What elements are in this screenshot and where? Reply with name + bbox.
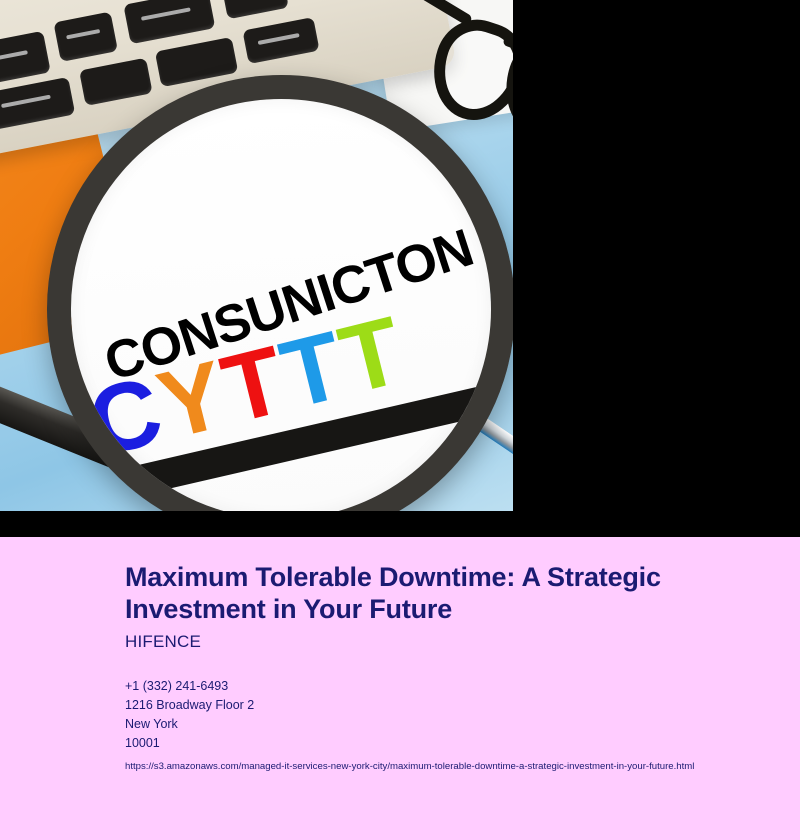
contact-phone: +1 (332) 241-6493 [125, 677, 785, 696]
keyboard-key [242, 17, 319, 64]
contact-postalcode: 10001 [125, 734, 785, 753]
brand-name: HIFENCE [125, 632, 201, 652]
keyboard-key [155, 37, 238, 87]
keyboard-key [221, 0, 289, 19]
media-band: CONSUNICTON CYTTT [0, 0, 800, 537]
keyboard-key [123, 0, 215, 44]
article-url-link[interactable]: https://s3.amazonaws.com/managed-it-serv… [125, 760, 694, 773]
contact-address: 1216 Broadway Floor 2 [125, 696, 785, 715]
keyboard-key [0, 77, 75, 131]
keyboard-key [79, 58, 153, 106]
page-title: Maximum Tolerable Downtime: A Strategic … [125, 561, 765, 625]
page-root: CONSUNICTON CYTTT Maximum Tolerable Down… [0, 0, 800, 840]
contact-block: +1 (332) 241-6493 1216 Broadway Floor 2 … [125, 677, 785, 753]
keyboard-key [0, 31, 51, 87]
contact-city: New York [125, 715, 785, 734]
article-info-panel: Maximum Tolerable Downtime: A Strategic … [0, 537, 800, 840]
article-hero-image: CONSUNICTON CYTTT [0, 0, 513, 511]
keyboard-key [53, 12, 118, 62]
